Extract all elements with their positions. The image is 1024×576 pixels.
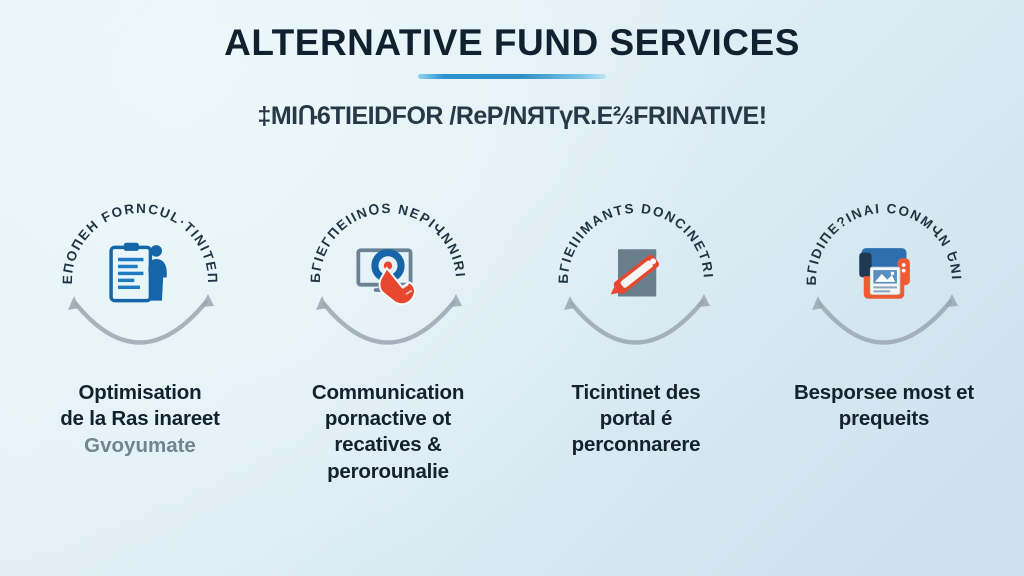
page-title: ALTERNATIVE FUND SERVICES xyxy=(0,22,1024,65)
caption-line: Optimisation xyxy=(60,380,220,406)
caption-line: portal é xyxy=(572,406,701,432)
caption-sub-line: Gvoyumate xyxy=(84,433,196,459)
slide-canvas: ALTERNATIVE FUND SERVICES ‡MIՌ6TIEIDFOR … xyxy=(0,0,1024,576)
caption-line: perorounalie xyxy=(312,459,464,485)
caption-line: Ticintinet des xyxy=(572,380,701,406)
service-caption-1: Optimisation de la Ras inareet xyxy=(60,380,220,432)
caption-line: pornactive ot xyxy=(312,406,464,432)
caption-line: recatives & xyxy=(312,432,464,458)
caption-line: Communication xyxy=(312,380,464,406)
caption-line: prequeits xyxy=(794,406,974,432)
service-caption-sub-1: Gvoyumate xyxy=(84,433,196,459)
service-caption-4: Besporsee most et prequeits xyxy=(794,380,974,432)
service-column-3: OБГIEIIIMANTS DONCINETRIIИ xyxy=(522,186,750,485)
document-pencil-icon xyxy=(597,235,675,313)
service-badge-2: OБГIEГΠEIINՕS NEPIՎNNIRIIИ xyxy=(300,186,476,362)
caption-line: Besporsee most et xyxy=(794,380,974,406)
service-badge-4: OБГIDIΠE?INAI CONMՎN ԵNIIИ xyxy=(796,186,972,362)
service-badge-3: OБГIEIIIMANTS DONCINETRIIИ xyxy=(548,186,724,362)
title-accent-bar xyxy=(418,74,606,79)
slide-subtitle: ‡MIՌ6TIEIDFOR /ReP/NЯTүR.E⅔FRINATIVE! xyxy=(0,101,1024,131)
slide-header: ALTERNATIVE FUND SERVICES ‡MIՌ6TIEIDFOR … xyxy=(0,22,1024,131)
monitor-click-hand-icon xyxy=(349,235,427,313)
service-caption-2: Communication pornactive ot recatives & … xyxy=(312,380,464,485)
caption-line: de la Ras inareet xyxy=(60,406,220,432)
service-columns: DEΠOΠEH FORNCUL·TINITEΠЦ xyxy=(0,186,1024,485)
printer-image-document-icon xyxy=(845,235,923,313)
service-column-1: DEΠOΠEH FORNCUL·TINITEΠЦ xyxy=(26,186,254,485)
caption-line: perconnarere xyxy=(572,432,701,458)
service-column-2: OБГIEГΠEIINՕS NEPIՎNNIRIIИ xyxy=(274,186,502,485)
service-badge-1: DEΠOΠEH FORNCUL·TINITEΠЦ xyxy=(52,186,228,362)
service-caption-3: Ticintinet des portal é perconnarere xyxy=(572,380,701,459)
clipboard-person-icon xyxy=(101,235,179,313)
service-column-4: OБГIDIΠE?INAI CONMՎN ԵNIIИ xyxy=(770,186,998,485)
